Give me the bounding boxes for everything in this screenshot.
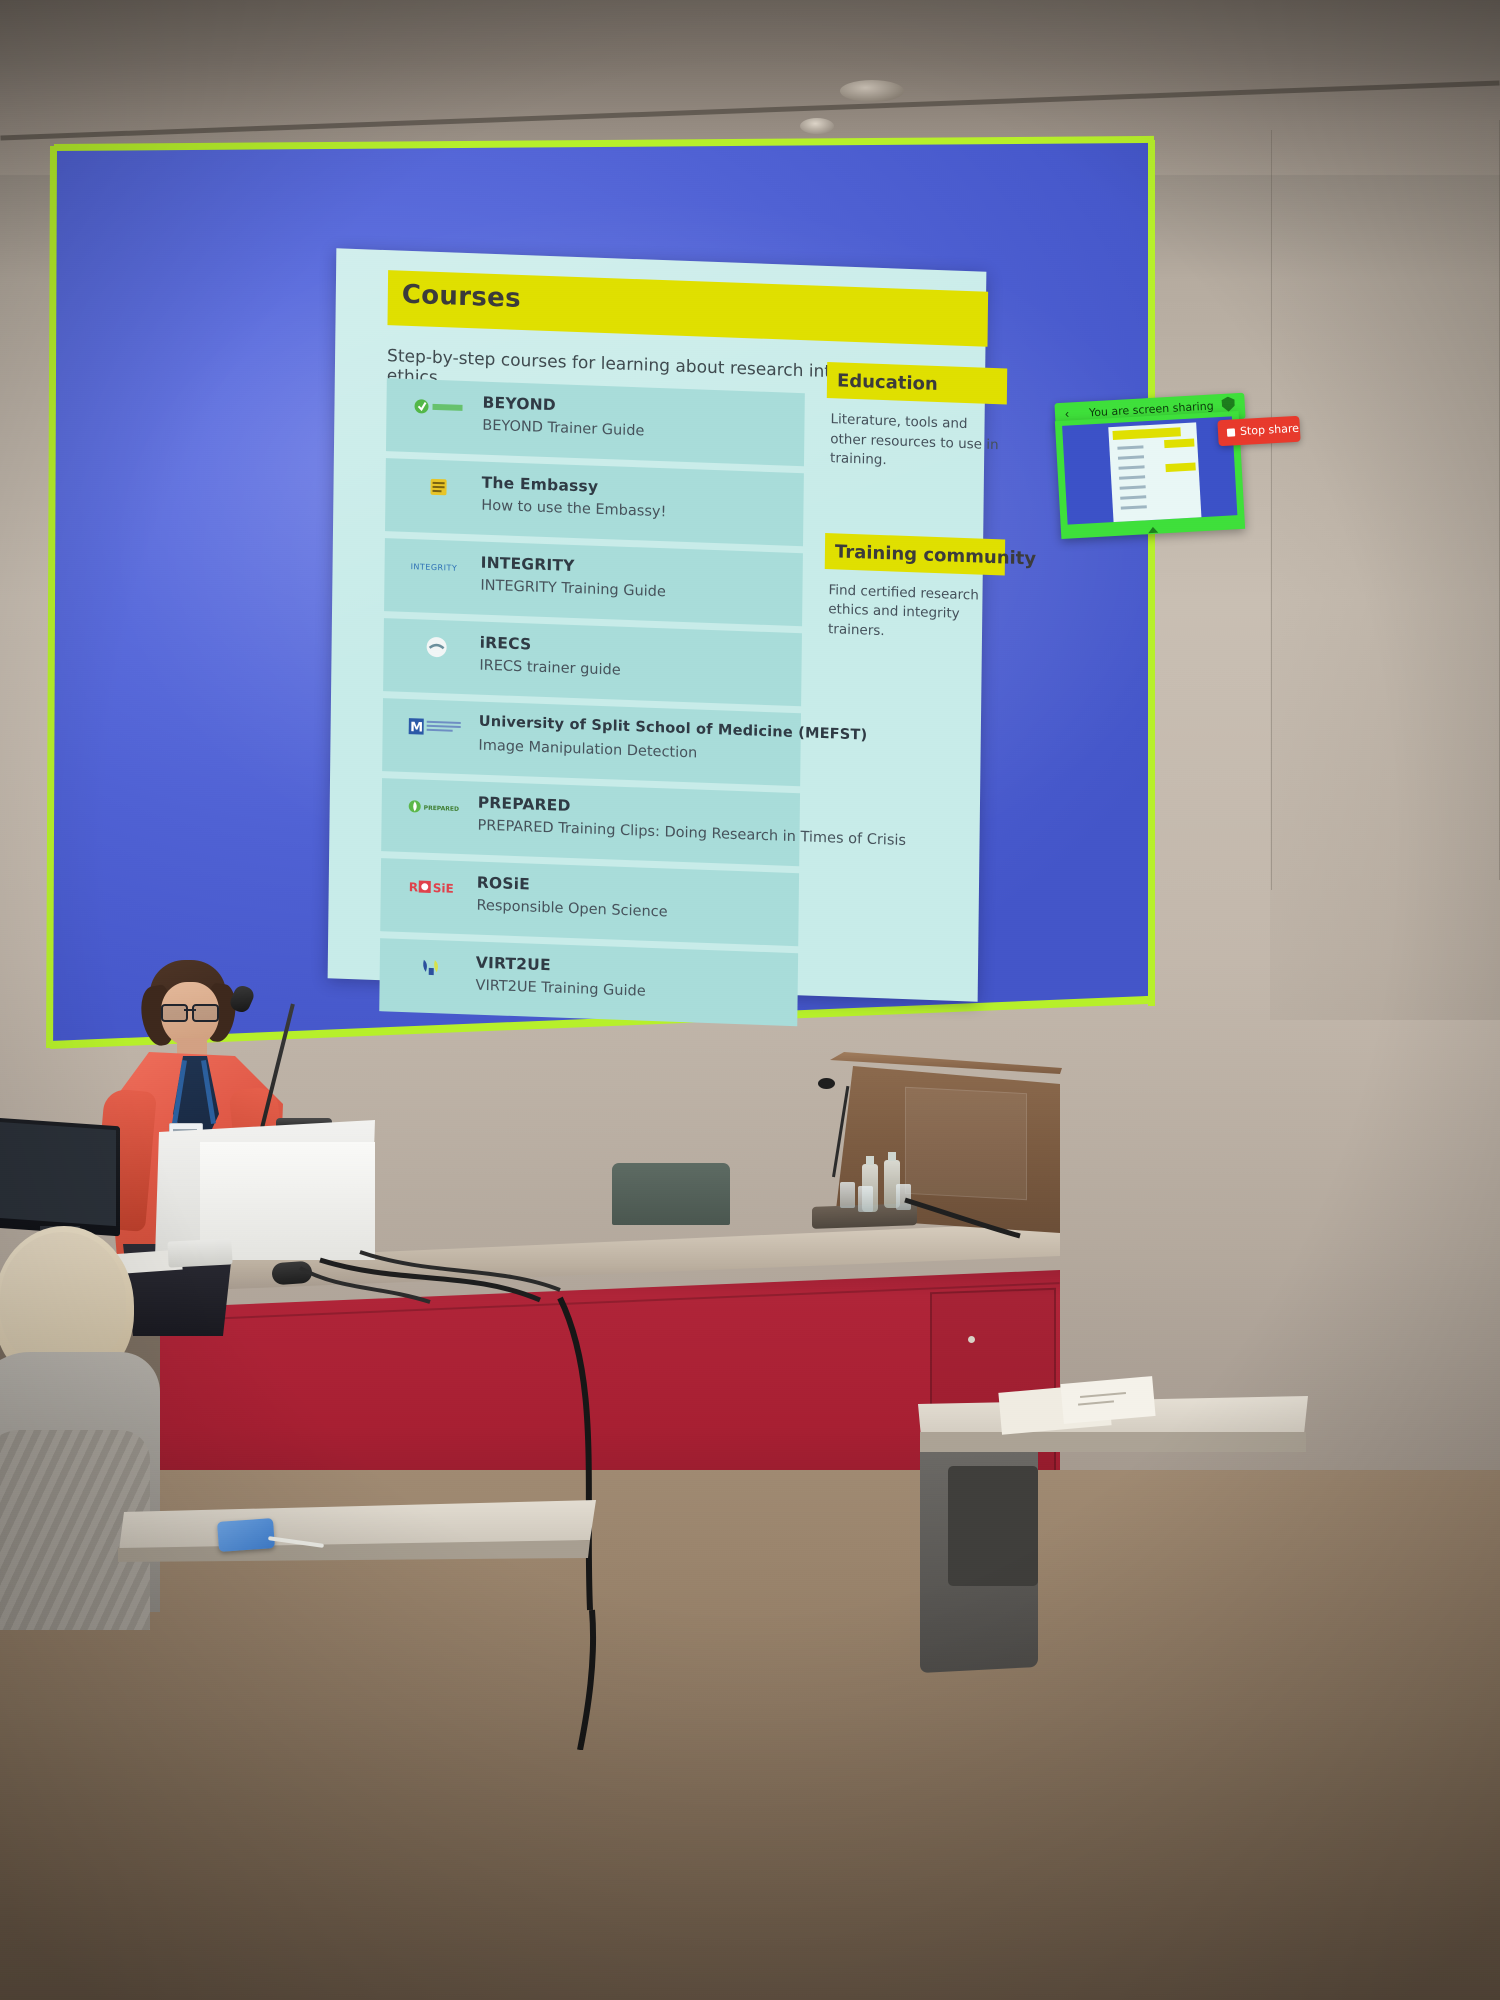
stop-share-label: Stop share: [1240, 422, 1300, 438]
list-item[interactable]: The Embassy How to use the Embassy!: [385, 458, 804, 546]
ceiling-spotlight-icon: [800, 118, 834, 134]
embassy-logo-icon: [409, 475, 467, 499]
preview-line: [1120, 485, 1146, 489]
beyond-logo-icon: [410, 395, 468, 419]
course-name: PREPARED: [478, 794, 571, 815]
course-name: INTEGRITY: [481, 554, 575, 575]
glasses-icon: [161, 1004, 219, 1018]
course-name: iRECS: [480, 634, 532, 654]
audience-desk-right-edge: [920, 1432, 1306, 1452]
audience-member-head: [0, 1232, 126, 1367]
preview-line: [1118, 455, 1144, 459]
education-body: Literature, tools and other resources to…: [830, 410, 1007, 475]
svg-text:PREPARED: PREPARED: [424, 805, 459, 813]
course-name: ROSiE: [477, 874, 530, 894]
presentation-slide: Courses Step-by-step courses for learnin…: [328, 248, 987, 1001]
irecs-logo-icon: [408, 635, 466, 659]
screen-share-preview[interactable]: [1055, 411, 1245, 539]
glasses-lens-right: [192, 1004, 219, 1022]
chevron-up-icon[interactable]: [1148, 527, 1158, 534]
svg-text:SiE: SiE: [433, 881, 454, 896]
lanyard: [175, 1060, 213, 1130]
slide-right-column: Education Literature, tools and other re…: [824, 362, 1007, 646]
screen-share-preview-inner: [1062, 416, 1237, 524]
right-wall-panel: [1270, 120, 1500, 1020]
course-name: The Embassy: [482, 474, 599, 496]
lectern-panel: [905, 1087, 1027, 1200]
preview-line: [1117, 445, 1143, 449]
preview-line: [1121, 505, 1147, 509]
prepared-logo-icon: PREPARED: [406, 795, 464, 819]
list-item[interactable]: BEYOND BEYOND Trainer Guide: [386, 378, 805, 466]
smartphone[interactable]: [217, 1518, 275, 1552]
svg-text:R: R: [409, 880, 418, 894]
training-community-heading-banner: Training community: [825, 533, 1005, 575]
list-item[interactable]: M University of Split School of Medicine…: [382, 698, 801, 786]
projection-screen: Courses Step-by-step courses for learnin…: [40, 140, 1160, 1050]
shield-icon: [1221, 396, 1235, 412]
course-description: How to use the Embassy!: [481, 498, 666, 521]
education-heading: Education: [837, 370, 938, 395]
svg-text:INTEGRITY: INTEGRITY: [411, 562, 458, 573]
course-description: Image Manipulation Detection: [478, 738, 697, 762]
lectern-microphone-icon: [818, 1078, 835, 1089]
preview-line: [1119, 475, 1145, 479]
course-description: INTEGRITY Training Guide: [480, 578, 666, 601]
course-description: Responsible Open Science: [476, 898, 667, 921]
list-item[interactable]: iRECS IRECS trainer guide: [383, 618, 802, 706]
screen-frame-right: [1148, 140, 1155, 1006]
rosie-logo-icon: RSiE: [405, 875, 463, 899]
preview-line: [1120, 495, 1146, 499]
wall-seam: [1271, 130, 1272, 890]
integrity-logo-icon: INTEGRITY: [408, 555, 466, 579]
lecture-hall-photo: Courses Step-by-step courses for learnin…: [0, 0, 1500, 2000]
preview-line: [1118, 465, 1144, 469]
glasses-lens-left: [161, 1004, 188, 1022]
course-description: BEYOND Trainer Guide: [482, 418, 644, 440]
course-list: BEYOND BEYOND Trainer Guide The Embassy …: [379, 378, 805, 1033]
ceiling-vent-icon: [840, 80, 904, 102]
stop-square-icon: [1227, 428, 1235, 436]
chevron-left-icon: ‹: [1065, 407, 1070, 421]
education-heading-banner: Education: [827, 362, 1007, 404]
course-name: BEYOND: [482, 394, 556, 415]
course-description: IRECS trainer guide: [479, 658, 620, 679]
course-name: VIRT2UE: [476, 954, 551, 975]
audience-chair-right-back: [948, 1466, 1038, 1586]
screen-share-preview-slide: [1108, 422, 1201, 523]
list-item[interactable]: RSiE ROSiE Responsible Open Science: [380, 858, 799, 946]
course-description: VIRT2UE Training Guide: [476, 978, 646, 1000]
mefst-logo-icon: M: [407, 715, 465, 739]
stop-share-button[interactable]: Stop share: [1217, 416, 1300, 447]
list-item[interactable]: VIRT2UE VIRT2UE Training Guide: [379, 938, 798, 1026]
training-community-body: Find certified research ethics and integ…: [828, 581, 1005, 646]
preview-banner: [1112, 427, 1180, 440]
list-item[interactable]: PREPARED PREPARED PREPARED Training Clip…: [381, 778, 800, 866]
preview-banner-right: [1164, 438, 1194, 448]
lanyard-strap-left: [172, 1060, 187, 1124]
svg-text:M: M: [410, 720, 423, 735]
list-item[interactable]: INTEGRITY INTEGRITY INTEGRITY Training G…: [384, 538, 803, 626]
preview-banner-right: [1165, 462, 1195, 472]
virt2ue-logo-icon: [404, 955, 462, 979]
